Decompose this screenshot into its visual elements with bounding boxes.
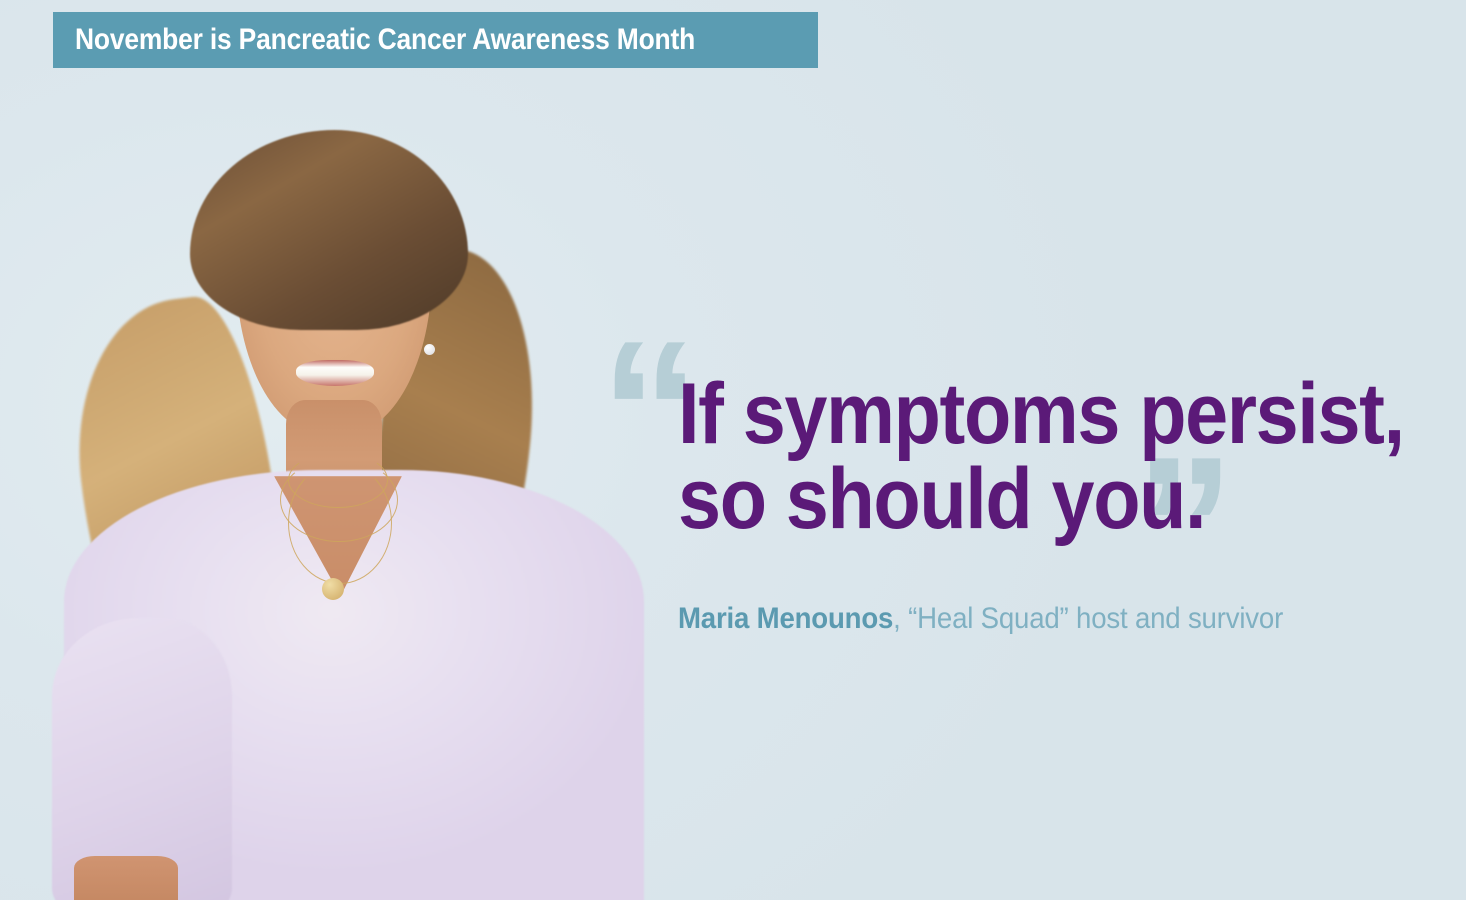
quote-text: If symptoms persist, so should you.: [678, 372, 1466, 542]
hair-top: [190, 130, 468, 330]
quote-line-2: so should you.: [678, 457, 1404, 542]
necklace-pendant: [322, 578, 344, 600]
eyebrow-right: [341, 248, 388, 260]
awareness-month-banner-text: November is Pancreatic Cancer Awareness …: [75, 23, 695, 57]
eye-left: [272, 268, 304, 281]
quote-line-1: If symptoms persist,: [678, 372, 1404, 457]
earring: [424, 344, 435, 355]
necklace-chain-short: [288, 452, 388, 508]
hair-strand-right: [356, 243, 549, 676]
attribution-name: Maria Menounos: [678, 602, 893, 635]
eye-right: [348, 268, 380, 281]
quote-attribution: Maria Menounos, “Heal Squad” host and su…: [678, 602, 1336, 636]
sweater-v-neckline: [274, 476, 402, 596]
eyebrow-left: [263, 248, 310, 261]
awareness-month-banner: November is Pancreatic Cancer Awareness …: [53, 12, 818, 68]
face: [236, 172, 432, 434]
awareness-poster: November is Pancreatic Cancer Awareness …: [0, 0, 1466, 900]
necklace-chain-long: [288, 462, 392, 584]
sweater-sleeve-left: [52, 618, 232, 900]
chest: [236, 472, 454, 602]
neck: [286, 400, 382, 520]
necklace-chain-mid: [280, 458, 398, 542]
hair-strand-left: [61, 290, 302, 740]
lavender-sweater: [64, 470, 644, 900]
hair-mass: [148, 118, 500, 678]
attribution-description: , “Heal Squad” host and survivor: [893, 602, 1283, 635]
forearm-left: [74, 856, 178, 900]
smiling-mouth: [296, 360, 374, 386]
